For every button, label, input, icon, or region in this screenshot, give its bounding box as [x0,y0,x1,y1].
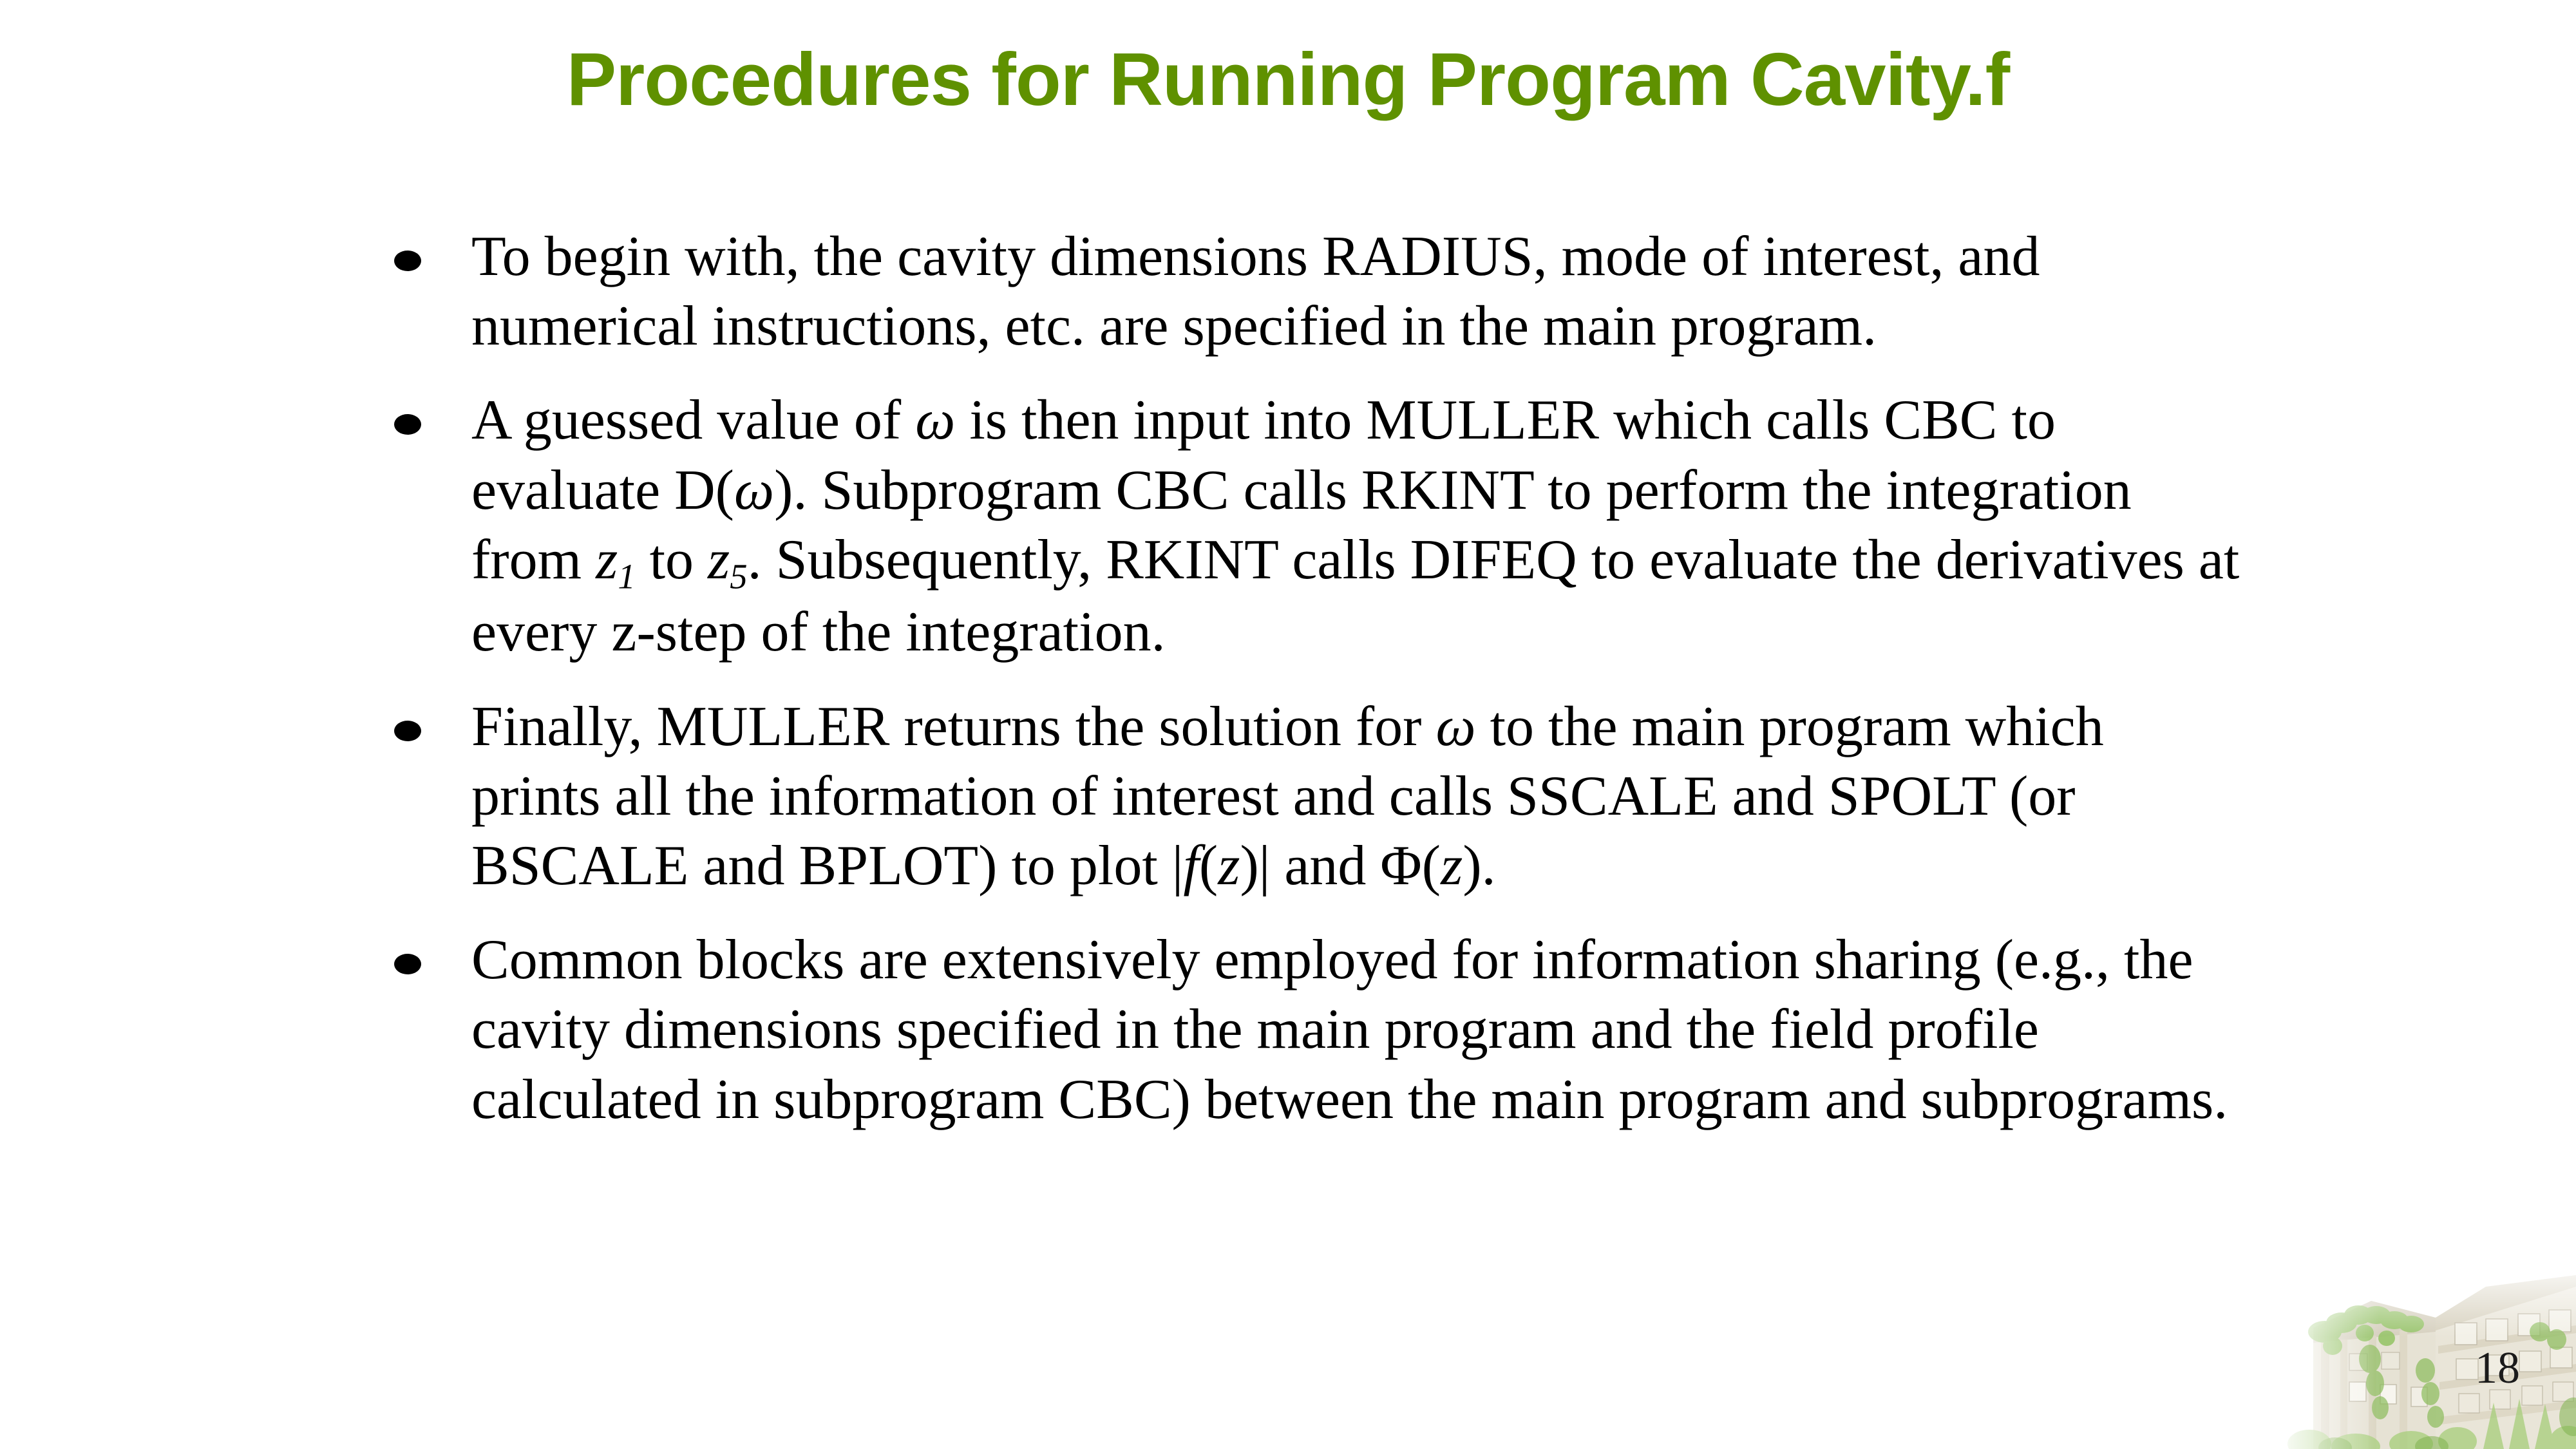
bullet-marker [394,386,434,435]
list-item: Finally, MULLER returns the solution for… [394,692,2242,902]
list-item: To begin with, the cavity dimensions RAD… [394,222,2242,361]
slide-canvas: Procedures for Running Program Cavity.f … [0,0,2576,1449]
list-item-text: Finally, MULLER returns the solution for… [434,692,2242,902]
bullet-list: To begin with, the cavity dimensions RAD… [394,222,2242,1159]
filled-ellipse-bullet-icon [394,251,421,271]
watercolor-campus-building-illustration [2273,1256,2576,1449]
list-item-text: To begin with, the cavity dimensions RAD… [434,222,2242,361]
bullet-marker [394,925,434,974]
page-title: Procedures for Running Program Cavity.f [0,39,2576,121]
bullet-marker [394,692,434,741]
filled-ellipse-bullet-icon [394,721,421,741]
filled-ellipse-bullet-icon [394,414,421,435]
list-item: Common blocks are extensively employed f… [394,925,2242,1135]
list-item-text: Common blocks are extensively employed f… [434,925,2242,1135]
list-item: A guessed value of ω is then input into … [394,386,2242,667]
page-number: 18 [2475,1346,2520,1391]
list-item-text: A guessed value of ω is then input into … [434,386,2242,667]
bullet-marker [394,222,434,271]
filled-ellipse-bullet-icon [394,954,421,974]
